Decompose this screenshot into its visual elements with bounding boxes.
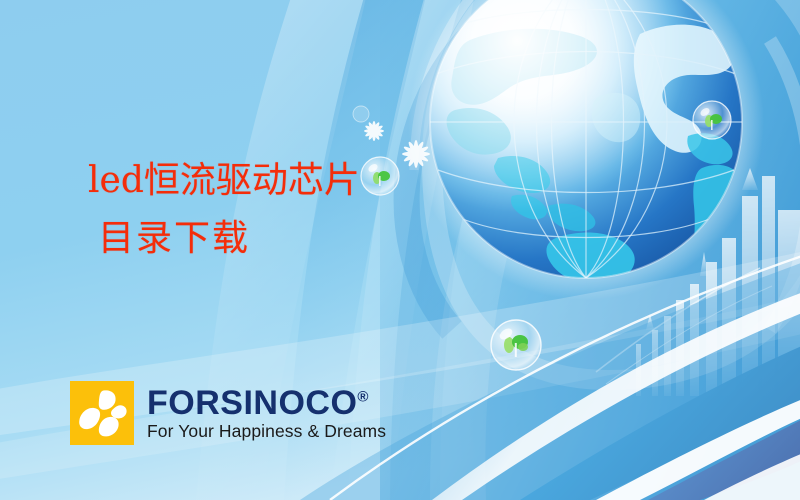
registered-trademark-icon: ® bbox=[357, 388, 369, 405]
headline-line-2: 目录下载 bbox=[98, 218, 360, 260]
logo-wordmark-text: FORSINOCO bbox=[147, 384, 357, 422]
bubble-small-faint bbox=[353, 106, 369, 122]
company-logo: FORSINOCO® For Your Happiness & Dreams bbox=[70, 381, 386, 445]
headline-line-1: led恒流驱动芯片 bbox=[88, 160, 360, 202]
headline-text: led恒流驱动芯片 目录下载 bbox=[88, 160, 360, 261]
forsinoco-flower-mark bbox=[70, 381, 134, 445]
logo-tagline: For Your Happiness & Dreams bbox=[147, 423, 386, 441]
four-petal-flower-icon bbox=[70, 381, 134, 445]
banner-canvas: led恒流驱动芯片 目录下载 FORSINOCO® For Your Happi… bbox=[0, 0, 800, 500]
logo-wordmark: FORSINOCO® bbox=[147, 386, 386, 420]
logo-text-block: FORSINOCO® For Your Happiness & Dreams bbox=[147, 386, 386, 441]
